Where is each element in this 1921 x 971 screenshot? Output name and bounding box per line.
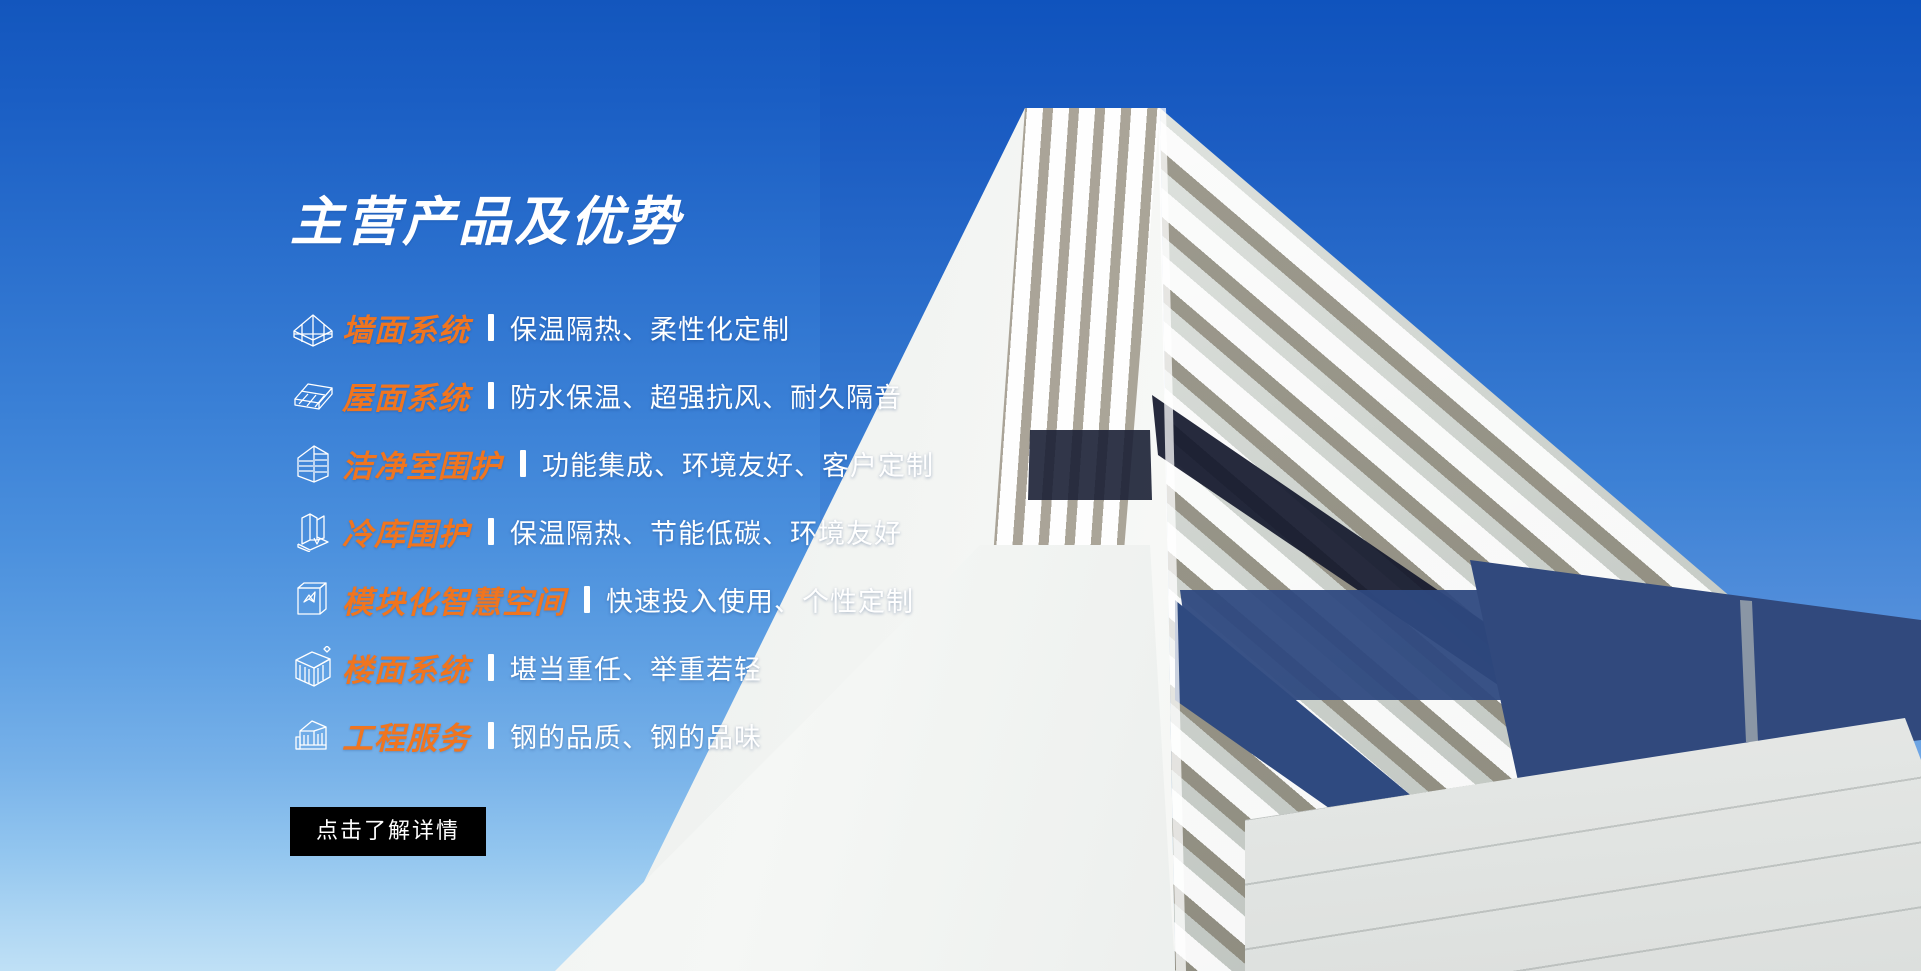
learn-more-button[interactable]: 点击了解详情	[290, 807, 486, 856]
cold-storage-icon	[290, 508, 342, 554]
product-description: 快速投入使用、个性定制	[606, 580, 914, 619]
floor-system-icon	[290, 644, 342, 690]
product-description: 防水保温、超强抗风、耐久隔音	[510, 376, 902, 415]
product-title: 模块化智慧空间	[342, 577, 566, 622]
product-description: 功能集成、环境友好、客户定制	[542, 444, 934, 483]
roof-panel-icon	[290, 372, 342, 418]
product-title: 楼面系统	[342, 645, 470, 690]
list-item[interactable]: 工程服务 钢的品质、钢的品味	[290, 701, 1190, 769]
title-desc-separator	[488, 722, 494, 749]
modular-cube-icon	[290, 576, 342, 622]
list-item[interactable]: 楼面系统 堪当重任、举重若轻	[290, 633, 1190, 701]
title-desc-separator	[488, 654, 494, 681]
product-title: 冷库围护	[342, 509, 470, 554]
cleanroom-building-icon	[290, 440, 342, 486]
list-item[interactable]: 模块化智慧空间 快速投入使用、个性定制	[290, 565, 1190, 633]
product-advantages-banner: 主营产品及优势 墙面系统 保温隔热、柔性化定制	[0, 0, 1921, 971]
product-list: 墙面系统 保温隔热、柔性化定制 屋面系统 防水保温、超强抗风、耐久隔音	[290, 293, 1190, 769]
product-description: 保温隔热、柔性化定制	[510, 308, 790, 347]
title-desc-separator	[488, 518, 494, 545]
product-title: 屋面系统	[342, 373, 470, 418]
banner-content: 主营产品及优势 墙面系统 保温隔热、柔性化定制	[290, 196, 1190, 856]
list-item[interactable]: 墙面系统 保温隔热、柔性化定制	[290, 293, 1190, 361]
product-title: 洁净室围护	[342, 441, 502, 486]
wall-panel-icon	[290, 304, 342, 350]
page-title: 主营产品及优势	[290, 196, 1190, 249]
title-desc-separator	[488, 314, 494, 341]
engineering-service-icon	[290, 712, 342, 758]
list-item[interactable]: 冷库围护 保温隔热、节能低碳、环境友好	[290, 497, 1190, 565]
title-desc-separator	[520, 450, 526, 477]
list-item[interactable]: 洁净室围护 功能集成、环境友好、客户定制	[290, 429, 1190, 497]
product-title: 工程服务	[342, 713, 470, 758]
title-desc-separator	[488, 382, 494, 409]
title-desc-separator	[584, 586, 590, 613]
product-title: 墙面系统	[342, 305, 470, 350]
product-description: 保温隔热、节能低碳、环境友好	[510, 512, 902, 551]
product-description: 堪当重任、举重若轻	[510, 648, 762, 687]
list-item[interactable]: 屋面系统 防水保温、超强抗风、耐久隔音	[290, 361, 1190, 429]
product-description: 钢的品质、钢的品味	[510, 716, 762, 755]
